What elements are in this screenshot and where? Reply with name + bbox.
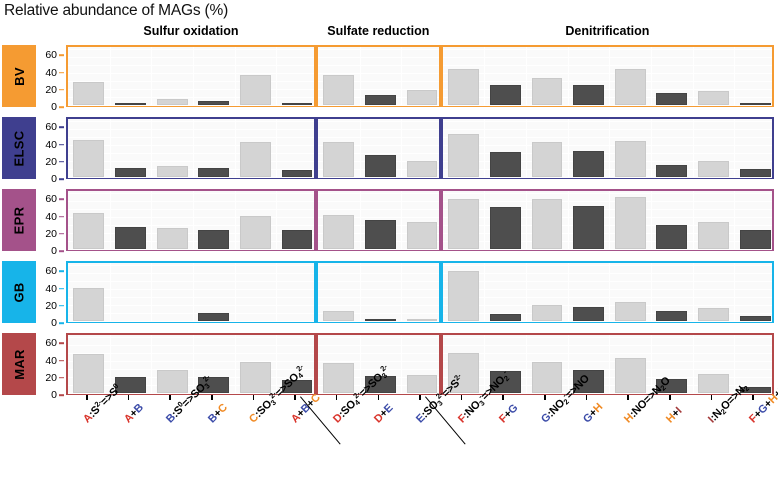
bar-bv-F[interactable] bbox=[448, 69, 479, 105]
gridline-v bbox=[360, 119, 361, 177]
gridline-v bbox=[734, 263, 735, 321]
gridline-v bbox=[110, 263, 111, 321]
panel-gb-denitrification bbox=[441, 261, 774, 323]
gridline-h bbox=[443, 265, 772, 266]
gridline-v bbox=[360, 191, 361, 249]
x-axis-label-H+I[interactable]: H+I bbox=[664, 405, 684, 425]
y-tick-mark bbox=[59, 216, 64, 218]
y-axis-bv: 0204060 bbox=[36, 45, 64, 107]
bar-mar-A[interactable] bbox=[73, 354, 104, 393]
gridline-h bbox=[318, 321, 439, 322]
y-tick-mark bbox=[59, 161, 64, 163]
gridline-v bbox=[568, 335, 569, 393]
y-tick-label: 60 bbox=[45, 121, 57, 133]
gridline-h bbox=[443, 129, 772, 130]
gridline-v bbox=[693, 263, 694, 321]
gridline-v bbox=[360, 335, 361, 393]
gridline-v bbox=[235, 335, 236, 393]
gridline-h bbox=[318, 105, 439, 106]
site-label-text: EPR bbox=[11, 206, 26, 234]
x-tick-mark bbox=[669, 395, 671, 400]
site-label-gb: GB bbox=[2, 261, 36, 323]
gridline-v bbox=[110, 47, 111, 105]
bar-elsc-B+C[interactable] bbox=[198, 168, 229, 177]
y-tick-mark bbox=[59, 305, 64, 307]
gridline-v bbox=[276, 47, 277, 105]
y-tick-label: 20 bbox=[45, 156, 57, 168]
bar-bv-G[interactable] bbox=[532, 78, 563, 105]
bar-mar-I[interactable] bbox=[698, 374, 729, 393]
y-axis-gb: 0204060 bbox=[36, 261, 64, 323]
x-tick-mark bbox=[752, 395, 754, 400]
gridline-h bbox=[318, 297, 439, 298]
gridline-h bbox=[318, 201, 439, 202]
bar-gb-G[interactable] bbox=[532, 305, 563, 321]
gridline-v bbox=[734, 47, 735, 105]
gridline-h bbox=[318, 361, 439, 362]
gridline-h bbox=[318, 129, 439, 130]
gridline-h bbox=[443, 193, 772, 194]
bar-bv-D+E[interactable] bbox=[365, 95, 396, 105]
gridline-v bbox=[609, 47, 610, 105]
gridline-h bbox=[318, 273, 439, 274]
bar-bv-C[interactable] bbox=[240, 75, 271, 105]
gridline-v bbox=[401, 119, 402, 177]
y-tick-label: 0 bbox=[51, 389, 57, 401]
x-tick-mark bbox=[586, 395, 588, 400]
bar-gb-D[interactable] bbox=[323, 311, 354, 321]
gridline-h bbox=[318, 73, 439, 74]
bar-gb-E[interactable] bbox=[407, 319, 438, 321]
x-axis-label-D+E[interactable]: D+E bbox=[372, 402, 395, 425]
bar-epr-C[interactable] bbox=[240, 216, 271, 249]
x-tick-mark bbox=[378, 395, 380, 400]
y-tick-label: 60 bbox=[45, 49, 57, 61]
gridline-v bbox=[235, 191, 236, 249]
gridline-v bbox=[276, 191, 277, 249]
gridline-h bbox=[318, 289, 439, 290]
gridline-h bbox=[443, 177, 772, 178]
y-tick-label: 60 bbox=[45, 265, 57, 277]
gridline-v bbox=[526, 335, 527, 393]
gridline-h bbox=[318, 57, 439, 58]
y-tick-mark bbox=[59, 394, 64, 396]
gridline-h bbox=[318, 265, 439, 266]
gridline-v bbox=[734, 191, 735, 249]
bar-epr-I[interactable] bbox=[698, 222, 729, 249]
bar-gb-G+H[interactable] bbox=[573, 307, 604, 321]
x-tick-mark bbox=[86, 395, 88, 400]
gridline-h bbox=[318, 393, 439, 394]
bar-elsc-F+G+H+I[interactable] bbox=[740, 169, 771, 177]
bar-gb-F[interactable] bbox=[448, 271, 479, 321]
bar-epr-B[interactable] bbox=[157, 228, 188, 249]
y-tick-mark bbox=[59, 377, 64, 379]
gridline-h bbox=[443, 201, 772, 202]
bar-bv-E[interactable] bbox=[407, 90, 438, 105]
panel-elsc-denitrification bbox=[441, 117, 774, 179]
bar-gb-H[interactable] bbox=[615, 302, 646, 321]
y-tick-label: 0 bbox=[51, 101, 57, 113]
panel-elsc-sulfur-oxidation bbox=[66, 117, 316, 179]
site-label-text: GB bbox=[11, 282, 26, 302]
bar-bv-B+C[interactable] bbox=[198, 101, 229, 105]
gridline-v bbox=[110, 191, 111, 249]
bar-elsc-C[interactable] bbox=[240, 142, 271, 177]
gridline-h bbox=[68, 249, 314, 250]
y-tick-mark bbox=[59, 322, 64, 324]
y-axis-epr: 0204060 bbox=[36, 189, 64, 251]
gridline-h bbox=[443, 297, 772, 298]
bar-epr-F[interactable] bbox=[448, 199, 479, 249]
bar-elsc-D+E[interactable] bbox=[365, 155, 396, 177]
bar-bv-A+B[interactable] bbox=[115, 103, 146, 105]
x-tick-mark bbox=[211, 395, 213, 400]
x-tick-mark bbox=[253, 395, 255, 400]
bar-epr-G+H[interactable] bbox=[573, 206, 604, 249]
y-tick-label: 40 bbox=[45, 355, 57, 367]
gridline-h bbox=[443, 369, 772, 370]
bar-epr-D+E[interactable] bbox=[365, 220, 396, 249]
site-label-text: MAR bbox=[11, 349, 26, 380]
gridline-v bbox=[651, 119, 652, 177]
bar-bv-I[interactable] bbox=[698, 91, 729, 105]
y-tick-label: 40 bbox=[45, 283, 57, 295]
site-label-elsc: ELSC bbox=[2, 117, 36, 179]
bar-elsc-G+H[interactable] bbox=[573, 151, 604, 177]
gridline-v bbox=[193, 335, 194, 393]
y-tick-mark bbox=[59, 106, 64, 108]
gridline-v bbox=[151, 47, 152, 105]
x-tick-mark bbox=[502, 395, 504, 400]
gridline-v bbox=[526, 119, 527, 177]
bar-bv-B[interactable] bbox=[157, 99, 188, 105]
gridline-v bbox=[568, 263, 569, 321]
y-tick-label: 0 bbox=[51, 245, 57, 257]
gridline-v bbox=[401, 263, 402, 321]
x-tick-mark bbox=[169, 395, 171, 400]
gridline-v bbox=[693, 191, 694, 249]
y-tick-mark bbox=[59, 55, 64, 57]
gridline-h bbox=[318, 337, 439, 338]
gridline-v bbox=[360, 47, 361, 105]
gridline-v bbox=[609, 335, 610, 393]
gridline-h bbox=[443, 137, 772, 138]
gridline-v bbox=[235, 119, 236, 177]
bar-epr-F+G+H+I[interactable] bbox=[740, 230, 771, 249]
y-tick-mark bbox=[59, 72, 64, 74]
bar-mar-C[interactable] bbox=[240, 362, 271, 393]
gridline-v bbox=[151, 119, 152, 177]
gridline-v bbox=[401, 47, 402, 105]
bar-elsc-A[interactable] bbox=[73, 140, 104, 177]
panel-elsc-sulfate-reduction bbox=[316, 117, 441, 179]
y-tick-mark bbox=[59, 89, 64, 91]
bar-bv-H[interactable] bbox=[615, 69, 646, 105]
gridline-h bbox=[443, 337, 772, 338]
panel-bv-sulfur-oxidation bbox=[66, 45, 316, 107]
bar-elsc-F[interactable] bbox=[448, 134, 479, 178]
gridline-v bbox=[568, 47, 569, 105]
bar-epr-H+I[interactable] bbox=[656, 225, 687, 249]
gridline-v bbox=[235, 263, 236, 321]
gridline-v bbox=[568, 191, 569, 249]
figure-title: Relative abundance of MAGs (%) bbox=[4, 2, 228, 20]
y-tick-mark bbox=[59, 288, 64, 290]
gridline-h bbox=[318, 345, 439, 346]
y-tick-mark bbox=[59, 178, 64, 180]
gridline-v bbox=[484, 335, 485, 393]
y-tick-mark bbox=[59, 271, 64, 273]
panel-epr-sulfur-oxidation bbox=[66, 189, 316, 251]
gridline-h bbox=[68, 105, 314, 106]
gridline-h bbox=[443, 249, 772, 250]
gridline-v bbox=[526, 191, 527, 249]
bar-gb-I[interactable] bbox=[698, 308, 729, 321]
y-tick-mark bbox=[59, 343, 64, 345]
y-tick-mark bbox=[59, 360, 64, 362]
bar-elsc-E[interactable] bbox=[407, 161, 438, 177]
gridline-h bbox=[68, 321, 314, 322]
gridline-h bbox=[443, 353, 772, 354]
gridline-v bbox=[609, 119, 610, 177]
gridline-h bbox=[443, 105, 772, 106]
gridline-v bbox=[651, 47, 652, 105]
y-tick-mark bbox=[59, 233, 64, 235]
gridline-v bbox=[526, 47, 527, 105]
bar-mar-H[interactable] bbox=[615, 358, 646, 393]
bar-epr-D[interactable] bbox=[323, 215, 354, 249]
panel-bv-denitrification bbox=[441, 45, 774, 107]
gridline-h bbox=[318, 305, 439, 306]
gridline-v bbox=[151, 335, 152, 393]
gridline-v bbox=[734, 119, 735, 177]
gridline-h bbox=[443, 81, 772, 82]
bar-epr-A+B+C[interactable] bbox=[282, 230, 313, 249]
gridline-h bbox=[443, 57, 772, 58]
gridline-v bbox=[276, 263, 277, 321]
site-label-bv: BV bbox=[2, 45, 36, 107]
bar-gb-H+I[interactable] bbox=[656, 311, 687, 321]
gridline-v bbox=[609, 191, 610, 249]
y-tick-label: 20 bbox=[45, 372, 57, 384]
gridline-v bbox=[193, 263, 194, 321]
y-tick-label: 20 bbox=[45, 84, 57, 96]
bar-elsc-A+B+C[interactable] bbox=[282, 170, 313, 177]
y-tick-label: 0 bbox=[51, 317, 57, 329]
x-axis-label-F+G[interactable]: F+G bbox=[497, 402, 520, 425]
gridline-v bbox=[484, 191, 485, 249]
bar-mar-E[interactable] bbox=[407, 375, 438, 393]
gridline-v bbox=[693, 335, 694, 393]
bar-bv-D[interactable] bbox=[323, 75, 354, 105]
gridline-v bbox=[484, 47, 485, 105]
y-tick-mark bbox=[59, 199, 64, 201]
site-label-epr: EPR bbox=[2, 189, 36, 251]
chart-row-epr: EPR0204060 bbox=[0, 189, 778, 251]
gridline-h bbox=[443, 281, 772, 282]
bar-epr-H[interactable] bbox=[615, 197, 646, 249]
bar-elsc-H+I[interactable] bbox=[656, 165, 687, 177]
bar-elsc-F+G[interactable] bbox=[490, 152, 521, 177]
figure-root: Relative abundance of MAGs (%) Sulfur ox… bbox=[0, 0, 778, 488]
gridline-h bbox=[318, 121, 439, 122]
group-header-denitrification: Denitrification bbox=[441, 24, 774, 38]
bar-bv-A[interactable] bbox=[73, 82, 104, 105]
gridline-v bbox=[151, 191, 152, 249]
chart-row-gb: GB0204060 bbox=[0, 261, 778, 323]
bar-mar-G[interactable] bbox=[532, 362, 563, 393]
gridline-v bbox=[276, 119, 277, 177]
bar-epr-B+C[interactable] bbox=[198, 230, 229, 249]
y-tick-label: 60 bbox=[45, 193, 57, 205]
y-tick-mark bbox=[59, 144, 64, 146]
x-tick-mark bbox=[294, 395, 296, 400]
gridline-h bbox=[318, 209, 439, 210]
gridline-v bbox=[110, 119, 111, 177]
gridline-v bbox=[193, 191, 194, 249]
gridline-h bbox=[318, 137, 439, 138]
x-tick-mark bbox=[627, 395, 629, 400]
gridline-h bbox=[443, 145, 772, 146]
gridline-v bbox=[276, 335, 277, 393]
y-tick-label: 20 bbox=[45, 300, 57, 312]
bar-elsc-D[interactable] bbox=[323, 142, 354, 177]
gridline-v bbox=[734, 335, 735, 393]
gridline-h bbox=[443, 305, 772, 306]
bar-gb-A[interactable] bbox=[73, 288, 104, 321]
gridline-v bbox=[484, 263, 485, 321]
y-tick-label: 40 bbox=[45, 211, 57, 223]
gridline-v bbox=[401, 335, 402, 393]
y-tick-label: 20 bbox=[45, 228, 57, 240]
bar-epr-A+B[interactable] bbox=[115, 227, 146, 249]
x-tick-mark bbox=[419, 395, 421, 400]
chart-row-bv: BV0204060 bbox=[0, 45, 778, 107]
y-tick-mark bbox=[59, 127, 64, 129]
y-tick-mark bbox=[59, 250, 64, 252]
gridline-h bbox=[443, 121, 772, 122]
gridline-v bbox=[693, 119, 694, 177]
site-label-text: ELSC bbox=[12, 130, 27, 166]
y-tick-label: 0 bbox=[51, 173, 57, 185]
site-label-mar: MAR bbox=[2, 333, 36, 395]
bar-bv-H+I[interactable] bbox=[656, 93, 687, 105]
y-tick-label: 60 bbox=[45, 337, 57, 349]
x-tick-mark bbox=[336, 395, 338, 400]
bar-gb-F+G[interactable] bbox=[490, 314, 521, 321]
gridline-h bbox=[318, 193, 439, 194]
panel-gb-sulfur-oxidation bbox=[66, 261, 316, 323]
gridline-h bbox=[68, 177, 314, 178]
gridline-v bbox=[651, 335, 652, 393]
gridline-h bbox=[443, 321, 772, 322]
panel-epr-sulfate-reduction bbox=[316, 189, 441, 251]
gridline-v bbox=[360, 263, 361, 321]
group-header-sulfur-oxidation: Sulfur oxidation bbox=[66, 24, 316, 38]
bar-mar-B[interactable] bbox=[157, 370, 188, 393]
bar-bv-A+B+C[interactable] bbox=[282, 103, 313, 105]
group-header-sulfate-reduction: Sulfate reduction bbox=[316, 24, 441, 38]
bar-epr-G[interactable] bbox=[532, 199, 563, 249]
gridline-h bbox=[443, 49, 772, 50]
gridline-h bbox=[318, 281, 439, 282]
panel-epr-denitrification bbox=[441, 189, 774, 251]
x-tick-mark bbox=[461, 395, 463, 400]
gridline-v bbox=[609, 263, 610, 321]
gridline-v bbox=[526, 263, 527, 321]
gridline-h bbox=[443, 65, 772, 66]
gridline-h bbox=[318, 177, 439, 178]
x-tick-mark bbox=[711, 395, 713, 400]
bar-elsc-B[interactable] bbox=[157, 166, 188, 177]
y-axis-elsc: 0204060 bbox=[36, 117, 64, 179]
gridline-h bbox=[318, 353, 439, 354]
bar-bv-F+G+H+I[interactable] bbox=[740, 103, 771, 105]
gridline-v bbox=[484, 119, 485, 177]
gridline-h bbox=[443, 289, 772, 290]
gridline-v bbox=[151, 263, 152, 321]
gridline-h bbox=[318, 249, 439, 250]
x-axis-label-A+B[interactable]: A+B bbox=[122, 402, 146, 426]
bar-mar-D[interactable] bbox=[323, 363, 354, 393]
gridline-v bbox=[401, 191, 402, 249]
gridline-h bbox=[443, 73, 772, 74]
bar-elsc-I[interactable] bbox=[698, 161, 729, 177]
y-axis-mar: 0204060 bbox=[36, 333, 64, 395]
gridline-v bbox=[235, 47, 236, 105]
bar-bv-F+G[interactable] bbox=[490, 85, 521, 105]
gridline-h bbox=[318, 65, 439, 66]
panel-bv-sulfate-reduction bbox=[316, 45, 441, 107]
y-tick-label: 40 bbox=[45, 139, 57, 151]
x-axis-label-G+H[interactable]: G+H bbox=[581, 401, 605, 425]
x-tick-mark bbox=[128, 395, 130, 400]
gridline-h bbox=[318, 49, 439, 50]
x-tick-mark bbox=[544, 395, 546, 400]
gridline-v bbox=[693, 47, 694, 105]
bar-elsc-H[interactable] bbox=[615, 141, 646, 177]
gridline-h bbox=[443, 273, 772, 274]
panel-gb-sulfate-reduction bbox=[316, 261, 441, 323]
bar-epr-E[interactable] bbox=[407, 222, 438, 249]
bar-gb-D+E[interactable] bbox=[365, 319, 396, 321]
gridline-h bbox=[443, 345, 772, 346]
bar-bv-G+H[interactable] bbox=[573, 85, 604, 105]
bar-elsc-A+B[interactable] bbox=[115, 168, 146, 177]
bar-elsc-G[interactable] bbox=[532, 142, 563, 177]
gridline-v bbox=[193, 119, 194, 177]
bar-gb-B+C[interactable] bbox=[198, 313, 229, 321]
gridline-v bbox=[193, 47, 194, 105]
x-axis-label-B+C[interactable]: B+C bbox=[206, 402, 230, 426]
gridline-v bbox=[651, 191, 652, 249]
gridline-h bbox=[443, 361, 772, 362]
gridline-v bbox=[568, 119, 569, 177]
gridline-v bbox=[651, 263, 652, 321]
y-tick-label: 40 bbox=[45, 67, 57, 79]
bar-epr-A[interactable] bbox=[73, 213, 104, 249]
bar-epr-F+G[interactable] bbox=[490, 207, 521, 249]
bar-gb-F+G+H+I[interactable] bbox=[740, 316, 771, 321]
chart-row-elsc: ELSC0204060 bbox=[0, 117, 778, 179]
site-label-text: BV bbox=[11, 67, 26, 86]
